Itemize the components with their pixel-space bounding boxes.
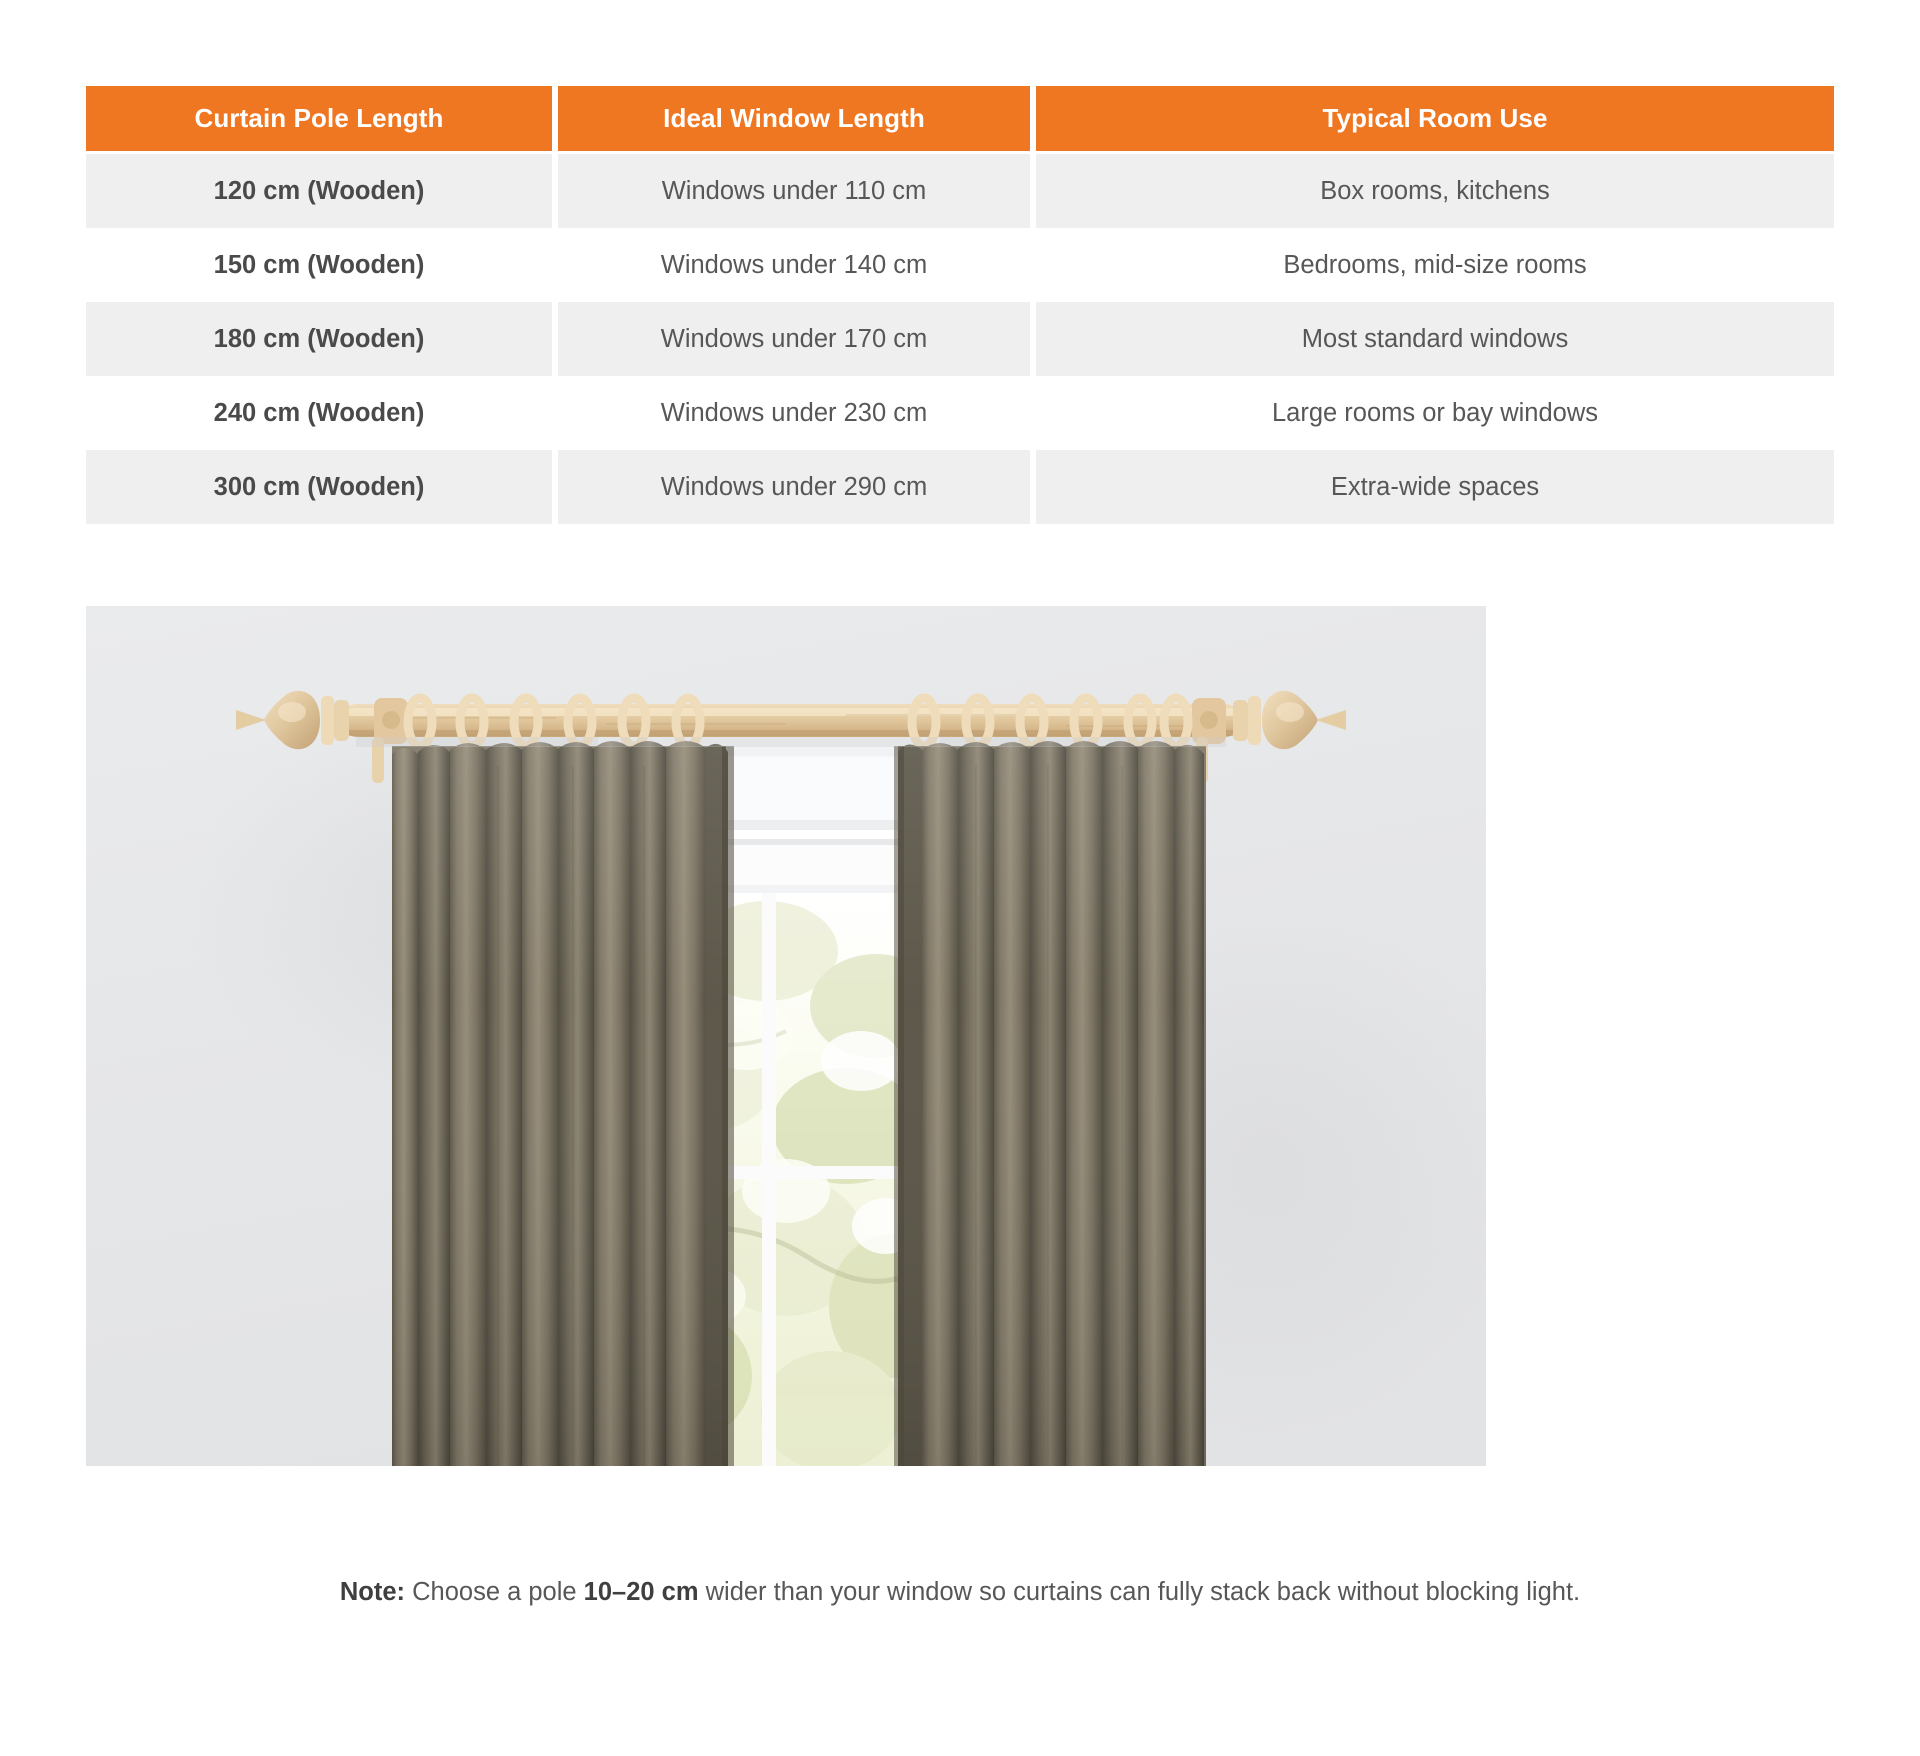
cell-pole-length: 300 cm (Wooden) xyxy=(86,450,552,524)
note-text: Note: Choose a pole 10–20 cm wider than … xyxy=(0,1575,1920,1609)
table-row: 240 cm (Wooden) Windows under 230 cm Lar… xyxy=(86,376,1834,450)
cell-room-use: Most standard windows xyxy=(1036,302,1834,376)
note-text-after: wider than your window so curtains can f… xyxy=(699,1578,1581,1606)
cell-window-length: Windows under 230 cm xyxy=(558,376,1030,450)
table-row: 180 cm (Wooden) Windows under 170 cm Mos… xyxy=(86,302,1834,376)
curtain-pole-size-table: Curtain Pole Length Ideal Window Length … xyxy=(86,86,1834,524)
note-emphasis: 10–20 cm xyxy=(584,1578,699,1606)
cell-room-use: Box rooms, kitchens xyxy=(1036,154,1834,228)
table-row: 300 cm (Wooden) Windows under 290 cm Ext… xyxy=(86,450,1834,524)
cell-room-use: Bedrooms, mid-size rooms xyxy=(1036,228,1834,302)
cell-room-use: Large rooms or bay windows xyxy=(1036,376,1834,450)
column-header-pole-length: Curtain Pole Length xyxy=(86,86,552,151)
note-text-before: Choose a pole xyxy=(405,1578,584,1606)
curtain-scene-illustration xyxy=(86,606,1486,1466)
cell-pole-length: 120 cm (Wooden) xyxy=(86,154,552,228)
note-label: Note: xyxy=(340,1578,405,1606)
left-curtain-panel xyxy=(392,741,734,1466)
cell-window-length: Windows under 290 cm xyxy=(558,450,1030,524)
column-header-room-use: Typical Room Use xyxy=(1036,86,1834,151)
infographic-page: Curtain Pole Length Ideal Window Length … xyxy=(0,0,1920,1756)
cell-window-length: Windows under 110 cm xyxy=(558,154,1030,228)
cell-room-use: Extra-wide spaces xyxy=(1036,450,1834,524)
cell-pole-length: 180 cm (Wooden) xyxy=(86,302,552,376)
table-row: 150 cm (Wooden) Windows under 140 cm Bed… xyxy=(86,228,1834,302)
column-header-window-length: Ideal Window Length xyxy=(558,86,1030,151)
table-row: 120 cm (Wooden) Windows under 110 cm Box… xyxy=(86,154,1834,228)
cell-pole-length: 240 cm (Wooden) xyxy=(86,376,552,450)
cell-pole-length: 150 cm (Wooden) xyxy=(86,228,552,302)
cell-window-length: Windows under 170 cm xyxy=(558,302,1030,376)
cell-window-length: Windows under 140 cm xyxy=(558,228,1030,302)
table-header-row: Curtain Pole Length Ideal Window Length … xyxy=(86,86,1834,151)
curtain-pole-photo xyxy=(86,606,1486,1466)
right-curtain-panel xyxy=(894,741,1206,1466)
